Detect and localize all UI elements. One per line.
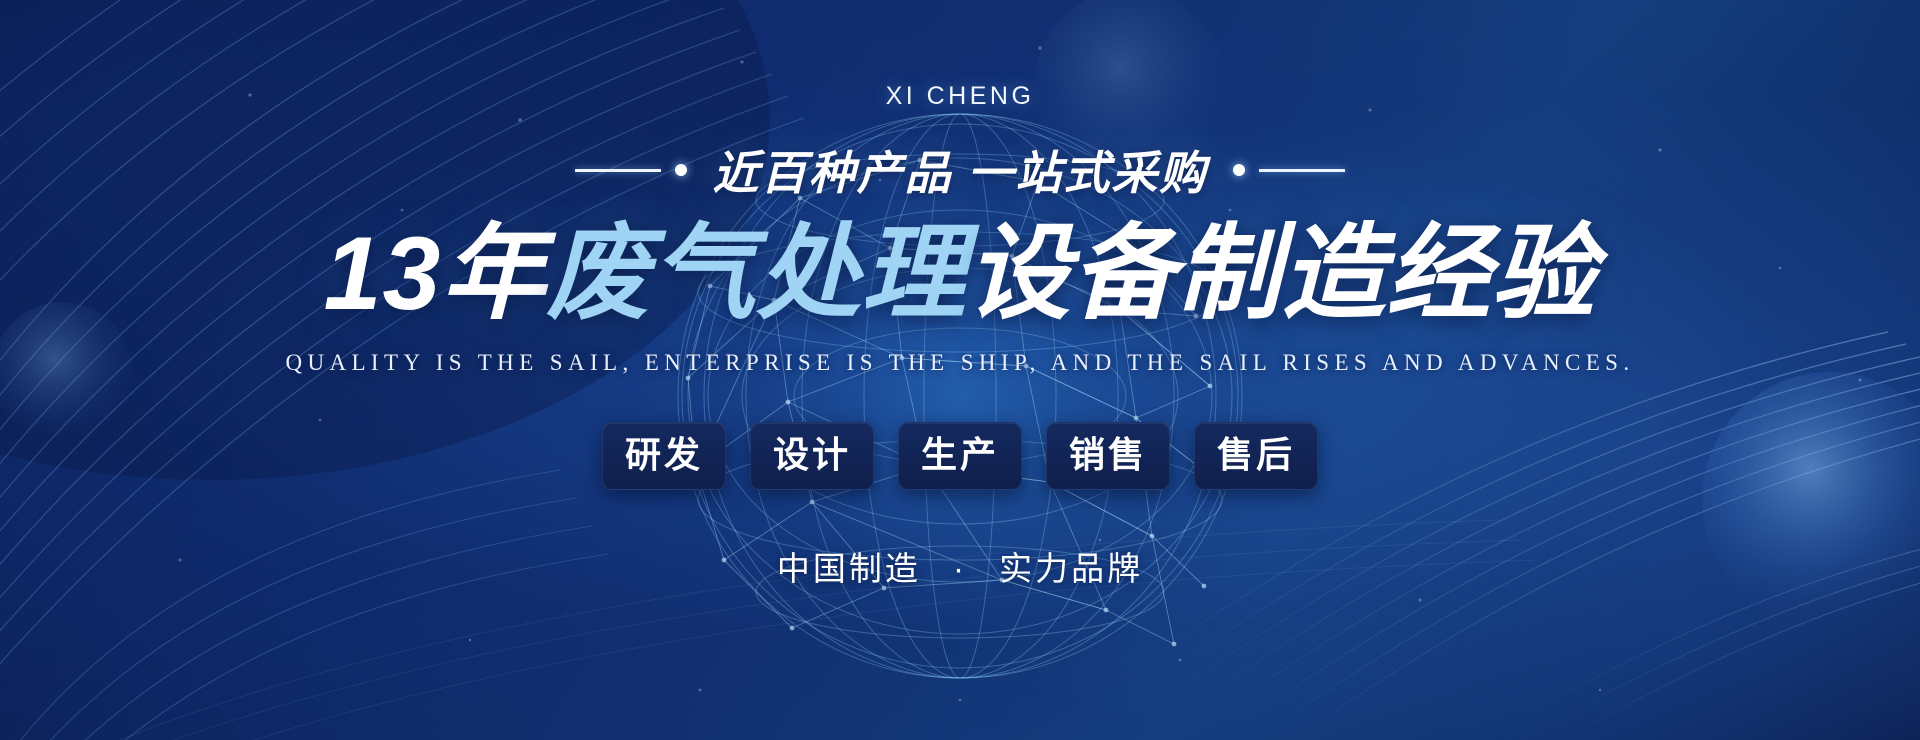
footer-slogan-right: 实力品牌 (999, 550, 1143, 587)
footer-separator: · (953, 550, 967, 587)
badge-rd[interactable]: 研发 (602, 422, 726, 490)
headline-accent: 废气处理 (546, 216, 966, 332)
badge-aftersales[interactable]: 售后 (1194, 422, 1318, 490)
page-title: 13年废气处理设备制造经验 (324, 213, 1597, 336)
badge-list: 研发 设计 生产 销售 售后 (602, 422, 1318, 490)
decorative-line-left (575, 164, 687, 176)
decorative-dot-icon (675, 164, 687, 176)
subtitle-english: QUALITY IS THE SAIL, ENTERPRISE IS THE S… (285, 350, 1634, 376)
headline-prefix: 13年 (324, 216, 547, 332)
hero-banner: XI CHENG 近百种产品 一站式采购 13年废气处理设备制造经验 QUALI… (0, 0, 1920, 740)
tagline-row: 近百种产品 一站式采购 (575, 137, 1346, 203)
badge-production[interactable]: 生产 (898, 422, 1022, 490)
footer-slogan-left: 中国制造 (777, 550, 921, 587)
badge-sales[interactable]: 销售 (1046, 422, 1170, 490)
decorative-line-right (1233, 164, 1345, 176)
decorative-bar (575, 169, 661, 172)
tagline-text: 近百种产品 一站式采购 (713, 137, 1208, 203)
decorative-dot-icon (1233, 164, 1245, 176)
headline-suffix: 设备制造经验 (966, 216, 1596, 332)
footer-slogan: 中国制造 · 实力品牌 (777, 542, 1143, 590)
badge-design[interactable]: 设计 (750, 422, 874, 490)
decorative-bar (1259, 169, 1345, 172)
brand-name-en: XI CHENG (886, 82, 1035, 111)
